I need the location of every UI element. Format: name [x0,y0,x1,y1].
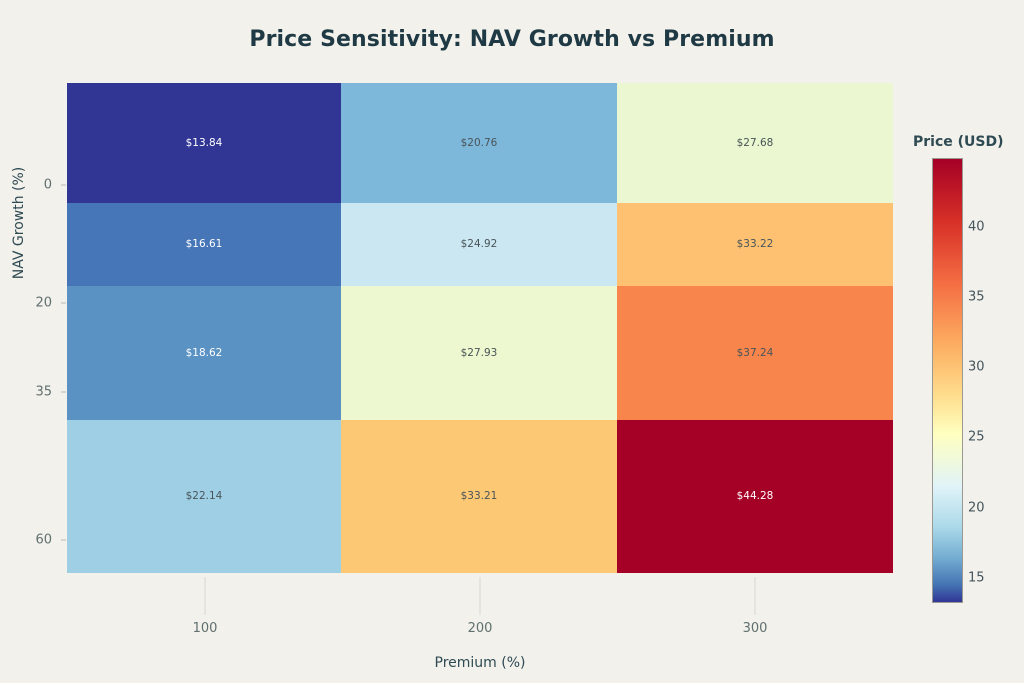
heatmap-cell-value: $33.22 [737,239,774,250]
y-axis-title: NAV Growth (%) [11,108,27,338]
heatmap-plot-area: $13.84$20.76$27.68$16.61$24.92$33.22$18.… [67,83,893,573]
colorbar-tick-label: 25 [968,430,985,445]
heatmap-cell[interactable]: $16.61 [67,203,341,286]
x-tick-mark [755,577,756,615]
y-tick-label: 20 [24,296,52,311]
y-tick-mark [61,303,66,304]
y-tick-label: 35 [24,385,52,400]
heatmap-cell-value: $18.62 [186,348,223,359]
x-tick-label: 200 [468,621,493,636]
heatmap-cell[interactable]: $33.22 [617,203,893,286]
colorbar-tick-label: 35 [968,289,985,304]
chart-canvas: Price Sensitivity: NAV Growth vs Premium… [0,0,1024,683]
x-tick-mark [480,577,481,615]
heatmap-cell[interactable]: $20.76 [341,83,617,203]
colorbar-gradient [932,158,963,603]
heatmap-cell[interactable]: $24.92 [341,203,617,286]
heatmap-cell[interactable]: $37.24 [617,286,893,420]
heatmap-cell[interactable]: $13.84 [67,83,341,203]
heatmap-cell[interactable]: $33.21 [341,420,617,573]
page-title: Price Sensitivity: NAV Growth vs Premium [0,27,1024,52]
y-tick-mark [61,392,66,393]
heatmap-cell-value: $33.21 [461,491,498,502]
heatmap-cell-value: $20.76 [461,138,498,149]
heatmap-cell-value: $44.28 [737,491,774,502]
colorbar-tick-label: 30 [968,360,985,375]
heatmap-cell-value: $22.14 [186,491,223,502]
x-tick-label: 100 [193,621,218,636]
colorbar-tick-label: 15 [968,570,985,585]
colorbar-tick-label: 20 [968,500,985,515]
heatmap-cell-value: $24.92 [461,239,498,250]
x-tick-label: 300 [743,621,768,636]
y-tick-mark [61,185,66,186]
heatmap-cell[interactable]: $27.93 [341,286,617,420]
heatmap-cell[interactable]: $22.14 [67,420,341,573]
heatmap-cell-value: $27.93 [461,348,498,359]
y-tick-label: 60 [24,533,52,548]
heatmap-cell[interactable]: $18.62 [67,286,341,420]
heatmap-cell[interactable]: $44.28 [617,420,893,573]
colorbar-title: Price (USD) [913,134,1004,150]
heatmap-cell-value: $27.68 [737,138,774,149]
heatmap-cell[interactable]: $27.68 [617,83,893,203]
x-tick-mark [205,577,206,615]
heatmap-cell-value: $13.84 [186,138,223,149]
colorbar-tick-label: 40 [968,219,985,234]
heatmap-cell-value: $16.61 [186,239,223,250]
heatmap-cell-value: $37.24 [737,348,774,359]
y-tick-label: 0 [24,178,52,193]
y-tick-mark [61,540,66,541]
x-axis-title: Premium (%) [0,655,960,671]
